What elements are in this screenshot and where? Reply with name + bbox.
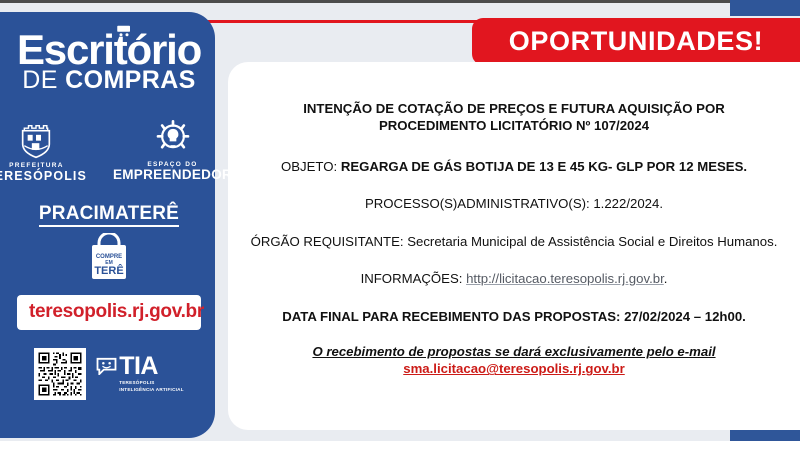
- notice-orgao-row: ÓRGÃO REQUISITANTE: Secretaria Municipal…: [250, 233, 778, 250]
- notice-objeto-label: OBJETO:: [281, 159, 341, 174]
- notice-headline-line1: INTENÇÃO DE COTAÇÃO DE PREÇOS E FUTURA A…: [303, 101, 725, 116]
- notice-processo-text: PROCESSO(S)ADMINISTRATIVO(S): 1.222/2024…: [365, 196, 663, 211]
- pracimatere-logo: PRACIMATERÊ: [39, 203, 179, 225]
- notice-orgao-label: ÓRGÃO REQUISITANTE:: [251, 234, 408, 249]
- notice-informacoes-label: INFORMAÇÕES:: [361, 271, 467, 286]
- tia-subtitle-line2: INTELIGÊNCIA ARTIFICIAL: [119, 387, 184, 393]
- brand-lockup: Escritório DE COMPRAS: [17, 30, 201, 92]
- brand-title-text: Escritório: [17, 26, 201, 73]
- svg-text:TERÊ: TERÊ: [94, 264, 123, 277]
- notice-orgao-value: Secretaria Municipal de Assistência Soci…: [407, 234, 777, 249]
- notice-headline-line2: PROCEDIMENTO LICITATÓRIO Nº 107/2024: [379, 118, 649, 133]
- notice-card: INTENÇÃO DE COTAÇÃO DE PREÇOS E FUTURA A…: [228, 62, 800, 430]
- logo-empreendedor: ESPAÇO DO EMPREENDEDOR: [113, 118, 232, 182]
- notice-deadline-row: DATA FINAL PARA RECEBIMENTO DAS PROPOSTA…: [250, 308, 778, 325]
- website-url-text: teresopolis.rj.gov.br: [29, 301, 204, 322]
- opportunity-poster: Escritório DE COMPRAS: [0, 0, 800, 450]
- tia-wordmark: TIA: [119, 354, 158, 379]
- notice-email-block: O recebimento de propostas se dará exclu…: [250, 343, 778, 378]
- logo-teresopolis-big-label: TERESÓPOLIS: [0, 170, 87, 183]
- sidebar: Escritório DE COMPRAS: [3, 12, 215, 438]
- tia-subtitle-line1: TERESÓPOLIS: [119, 380, 184, 386]
- partner-logos-row: PREFEITURA TERESÓPOLIS: [11, 118, 207, 182]
- tia-logo-top: TIA: [96, 354, 184, 379]
- logo-empreendedor-big-label: EMPREENDEDOR: [113, 168, 232, 182]
- tia-logo: TIA TERESÓPOLIS INTELIGÊNCIA ARTIFICIAL: [96, 354, 184, 393]
- banner-title: OPORTUNIDADES!: [509, 26, 763, 57]
- shopping-bag-icon: COMPRE EM TERÊ: [86, 233, 132, 281]
- chat-bubble-face-icon: [96, 357, 117, 375]
- notice-objeto-row: OBJETO: REGARGA DE GÁS BOTIJA DE 13 E 45…: [250, 158, 778, 175]
- teresopolis-coat-of-arms-icon: [16, 119, 56, 159]
- contact-email-link[interactable]: sma.licitacao@teresopolis.rj.gov.br: [403, 361, 625, 376]
- licitacao-site-link[interactable]: http://licitacao.teresopolis.rj.gov.br: [466, 271, 664, 286]
- bottom-white-strip: [0, 441, 800, 450]
- gear-lightbulb-icon: [153, 118, 193, 158]
- notice-processo-row: PROCESSO(S)ADMINISTRATIVO(S): 1.222/2024…: [250, 195, 778, 212]
- sidebar-footer: TIA TERESÓPOLIS INTELIGÊNCIA ARTIFICIAL: [11, 348, 207, 400]
- notice-email-note: O recebimento de propostas se dará exclu…: [312, 344, 715, 359]
- top-right-blue-accent: [730, 0, 800, 16]
- qr-code-icon[interactable]: [34, 348, 86, 400]
- website-url-pill[interactable]: teresopolis.rj.gov.br: [17, 295, 201, 330]
- brand-title-line1: Escritório: [17, 30, 201, 70]
- notice-deadline-text: DATA FINAL PARA RECEBIMENTO DAS PROPOSTA…: [282, 309, 746, 324]
- notice-informacoes-period: .: [664, 271, 668, 286]
- notice-informacoes-row: INFORMAÇÕES: http://licitacao.teresopoli…: [250, 270, 778, 287]
- notice-headline: INTENÇÃO DE COTAÇÃO DE PREÇOS E FUTURA A…: [250, 100, 778, 135]
- logo-teresopolis: PREFEITURA TERESÓPOLIS: [0, 119, 87, 182]
- oportunidades-banner: OPORTUNIDADES!: [472, 18, 800, 65]
- notice-objeto-value: REGARGA DE GÁS BOTIJA DE 13 E 45 KG- GLP…: [341, 159, 747, 174]
- top-hairline-divider: [0, 0, 800, 3]
- pracimatere-label: PRACIMATERÊ: [39, 203, 179, 227]
